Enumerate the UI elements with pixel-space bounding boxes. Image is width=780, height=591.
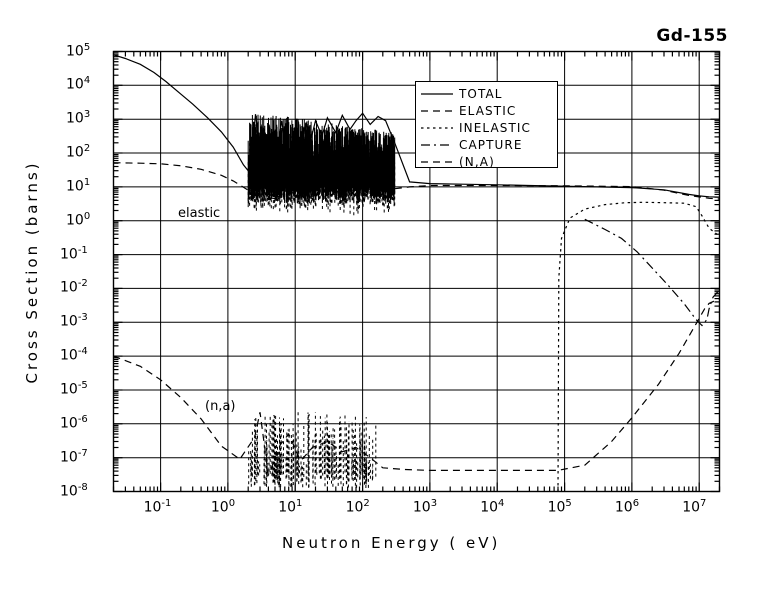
x-tick-label: 107 — [682, 498, 706, 516]
y-tick-label: 105 — [66, 42, 90, 60]
legend-line-sample — [420, 88, 454, 100]
y-tick-label: 10-4 — [60, 346, 88, 364]
y-tick-label: 10-2 — [60, 278, 88, 296]
legend-line-sample — [420, 105, 454, 117]
y-tick-label: 10-7 — [60, 448, 88, 466]
x-tick-label: 105 — [548, 498, 572, 516]
y-tick-label: 103 — [66, 109, 90, 127]
legend-item-n-a[interactable]: (N,A) — [420, 153, 495, 170]
legend-label: ELASTIC — [459, 105, 516, 117]
y-tick-label: 10-6 — [60, 414, 88, 432]
x-tick-label: 102 — [346, 498, 370, 516]
legend-line-sample — [420, 122, 454, 134]
annotation-elastic: elastic — [178, 206, 220, 221]
chart-page: Gd-155 Neutron Energy ( eV) Cross Sectio… — [0, 0, 780, 591]
y-tick-label: 10-8 — [60, 482, 88, 500]
y-axis-title: Cross Section (barns) — [23, 117, 41, 427]
legend-line-sample — [420, 156, 454, 168]
legend-label: TOTAL — [459, 88, 503, 100]
x-tick-label: 104 — [480, 498, 504, 516]
legend-item-capture[interactable]: CAPTURE — [420, 136, 523, 153]
x-tick-label: 106 — [615, 498, 639, 516]
y-tick-label: 10-5 — [60, 380, 88, 398]
y-tick-label: 101 — [66, 177, 90, 195]
x-tick-label: 101 — [278, 498, 302, 516]
y-tick-label: 102 — [66, 143, 90, 161]
x-tick-label: 103 — [413, 498, 437, 516]
legend-line-sample — [420, 139, 454, 151]
legend-label: INELASTIC — [459, 122, 531, 134]
annotation-na: (n,a) — [205, 399, 235, 414]
legend: TOTALELASTICINELASTICCAPTURE(N,A) — [415, 81, 558, 168]
legend-label: (N,A) — [459, 156, 495, 168]
series-inelastic — [558, 202, 720, 491]
legend-item-total[interactable]: TOTAL — [420, 85, 503, 102]
y-tick-label: 100 — [66, 211, 90, 229]
y-tick-label: 10-1 — [60, 245, 88, 263]
legend-item-elastic[interactable]: ELASTIC — [420, 102, 516, 119]
x-axis-title: Neutron Energy ( eV) — [282, 534, 500, 552]
legend-label: CAPTURE — [459, 139, 523, 151]
x-tick-label: 100 — [211, 498, 235, 516]
cross-section-plot — [0, 0, 780, 591]
series-n-a — [114, 299, 720, 476]
series-elastic — [114, 163, 720, 199]
y-tick-label: 104 — [66, 75, 90, 93]
legend-item-inelastic[interactable]: INELASTIC — [420, 119, 531, 136]
y-tick-label: 10-3 — [60, 312, 88, 330]
x-tick-label: 10-1 — [144, 498, 172, 516]
